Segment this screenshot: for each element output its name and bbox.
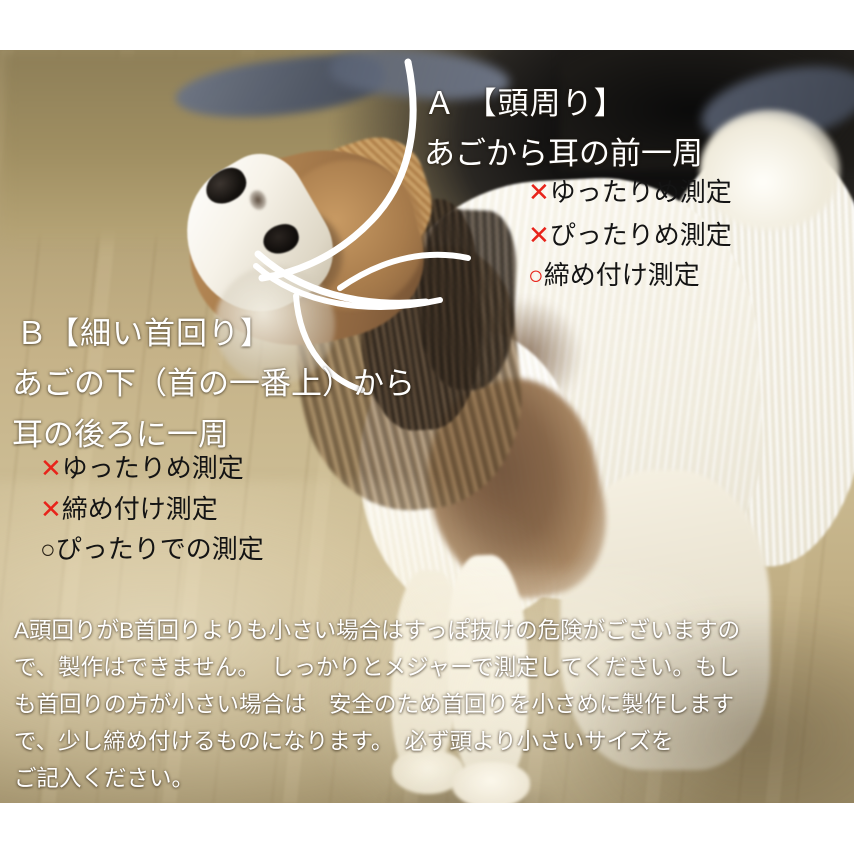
dog-tail-tip xyxy=(700,110,840,230)
section-b-option-3-label: ぴったりでの測定 xyxy=(56,534,264,564)
section-a-option-2: ✕ぴったりめ測定 xyxy=(528,222,732,248)
dog-ear-feathering-second xyxy=(417,208,518,391)
section-a-option-3-label: 締め付け測定 xyxy=(544,260,700,290)
section-b-option-1-label: ゆったりめ測定 xyxy=(62,453,244,483)
warning-note-line-1: A頭回りがB首回りよりも小さい場合はすっぽ抜けの危険がございますの xyxy=(14,612,840,649)
section-a-title: Ａ 【頭周り】 xyxy=(424,78,626,123)
section-b-option-2-label: 締め付け測定 xyxy=(62,494,218,524)
warning-note: A頭回りがB首回りよりも小さい場合はすっぽ抜けの危険がございますの で、製作はで… xyxy=(14,612,840,797)
size-guide-image: Ａ 【頭周り】 あごから耳の前一周 ✕ゆったりめ測定 ✕ぴったりめ測定 ○締め付… xyxy=(0,0,854,854)
warning-note-line-4: で、少し締め付けるものになります。 必ず頭より小さいサイズを xyxy=(14,723,840,760)
section-a-option-3: ○締め付け測定 xyxy=(528,262,700,288)
section-b-option-2: ✕締め付け測定 xyxy=(40,496,218,522)
section-a-subtitle: あごから耳の前一周 xyxy=(424,128,703,173)
cross-icon: ✕ xyxy=(40,455,62,481)
section-a-option-1-label: ゆったりめ測定 xyxy=(550,177,732,207)
warning-note-line-3: も首回りの方が小さい場合は 安全のため首回りを小さめに製作します xyxy=(14,686,840,723)
section-b-subtitle-line1: あごの下（首の一番上）から xyxy=(12,358,415,403)
circle-icon: ○ xyxy=(528,262,544,288)
section-b-option-3: ○ぴったりでの測定 xyxy=(40,536,264,562)
section-b-option-1: ✕ゆったりめ測定 xyxy=(40,455,244,481)
warning-note-line-5: ご記入ください。 xyxy=(14,760,840,797)
cross-icon: ✕ xyxy=(40,496,62,522)
section-a-option-1: ✕ゆったりめ測定 xyxy=(528,179,732,205)
circle-icon: ○ xyxy=(40,536,56,562)
section-b-title: Ｂ【細い首回り】 xyxy=(16,308,272,353)
section-a-option-2-label: ぴったりめ測定 xyxy=(550,220,732,250)
cross-icon: ✕ xyxy=(528,222,550,248)
section-b-subtitle-line2: 耳の後ろに一周 xyxy=(12,409,229,454)
cross-icon: ✕ xyxy=(528,179,550,205)
warning-note-line-2: で、製作はできません。 しっかりとメジャーで測定してください。もし xyxy=(14,649,840,686)
